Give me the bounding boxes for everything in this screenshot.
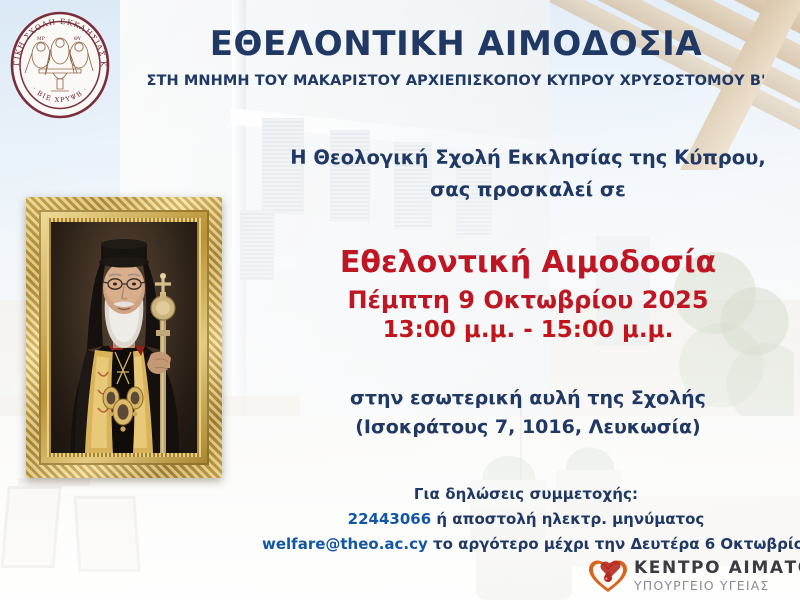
invitation-line-1: Η Θεολογική Σχολή Εκκλησίας της Κύπρου, <box>268 142 788 174</box>
contact-phone-rest: ή αποστολή ηλεκτρ. μηνύματος <box>431 510 704 528</box>
svg-text:ΘΥ: ΘΥ <box>74 36 82 42</box>
page-subtitle: ΣΤΗ ΜΝΗΜΗ ΤΟΥ ΜΑΚΑΡΙΣΤΟΥ ΑΡΧΙΕΠΙΣΚΟΠΟΥ Κ… <box>120 73 792 89</box>
venue-address: (Ισοκράτους 7, 1016, Λευκωσία) <box>268 413 788 442</box>
blood-center-logo: ΚΕΝΤΡΟ ΑΙΜΑΤΟΣ ΥΠΟΥΡΓΕΙΟ ΥΓΕΙΑΣ <box>588 556 796 596</box>
page-title: ΕΘΕΛΟΝΤΙΚΗ ΑΙΜΟΔΟΣΙΑ <box>120 26 792 62</box>
event-details-block: Εθελοντική Αιμοδοσία Πέμπτη 9 Οκτωβρίου … <box>268 246 788 345</box>
contact-email-rest: το αργότερο μέχρι την Δευτέρα 6 Οκτωβρίο… <box>428 535 800 553</box>
blood-center-title: ΚΕΝΤΡΟ ΑΙΜΑΤΟΣ <box>634 560 800 577</box>
event-date: Πέμπτη 9 Οκτωβρίου 2025 <box>268 286 788 315</box>
phone-number[interactable]: 22443066 <box>348 510 432 528</box>
blood-center-subtitle: ΥΠΟΥΡΓΕΙΟ ΥΓΕΙΑΣ <box>634 580 800 593</box>
header-block: ΕΘΕΛΟΝΤΙΚΗ ΑΙΜΟΔΟΣΙΑ ΣΤΗ ΜΝΗΜΗ ΤΟΥ ΜΑΚΑΡ… <box>120 26 792 89</box>
theological-school-seal: ΘΕΟΛΟΓΙΚΗ ΣΧΟΛΗ ΕΚΚΛΗΣΙΑΣ ΚΥΠΡΟΥ · ΒΙΕ Χ… <box>5 3 115 121</box>
venue-block: στην εσωτερική αυλή της Σχολής (Ισοκράτο… <box>268 384 788 442</box>
contact-heading: Για δηλώσεις συμμετοχής: <box>262 482 790 507</box>
email-address[interactable]: welfare@theo.ac.cy <box>262 535 428 553</box>
svg-text:ΜΡ: ΜΡ <box>37 36 45 42</box>
contact-phone-line: 22443066 ή αποστολή ηλεκτρ. μηνύματος <box>262 507 790 532</box>
archbishop-figure <box>51 222 197 453</box>
event-time: 13:00 μ.μ. - 15:00 μ.μ. <box>268 317 788 345</box>
event-name: Εθελοντική Αιμοδοσία <box>268 246 788 280</box>
invitation-line-2: σας προσκαλεί σε <box>268 174 788 206</box>
blood-center-logo-text: ΚΕΝΤΡΟ ΑΙΜΑΤΟΣ ΥΠΟΥΡΓΕΙΟ ΥΓΕΙΑΣ <box>634 560 800 593</box>
heart-blood-drop-icon <box>588 559 628 593</box>
contact-email-line: welfare@theo.ac.cy το αργότερο μέχρι την… <box>262 532 790 557</box>
seal-icon: ΘΕΟΛΟΓΙΚΗ ΣΧΟΛΗ ΕΚΚΛΗΣΙΑΣ ΚΥΠΡΟΥ · ΒΙΕ Χ… <box>5 3 115 121</box>
archbishop-portrait <box>26 197 222 478</box>
venue-line-1: στην εσωτερική αυλή της Σχολής <box>268 384 788 413</box>
invitation-block: Η Θεολογική Σχολή Εκκλησίας της Κύπρου, … <box>268 142 788 205</box>
poster-root: ΘΕΟΛΟΓΙΚΗ ΣΧΟΛΗ ΕΚΚΛΗΣΙΑΣ ΚΥΠΡΟΥ · ΒΙΕ Χ… <box>0 0 800 600</box>
contact-block: Για δηλώσεις συμμετοχής: 22443066 ή αποσ… <box>262 482 790 558</box>
portrait-canvas <box>51 222 197 453</box>
